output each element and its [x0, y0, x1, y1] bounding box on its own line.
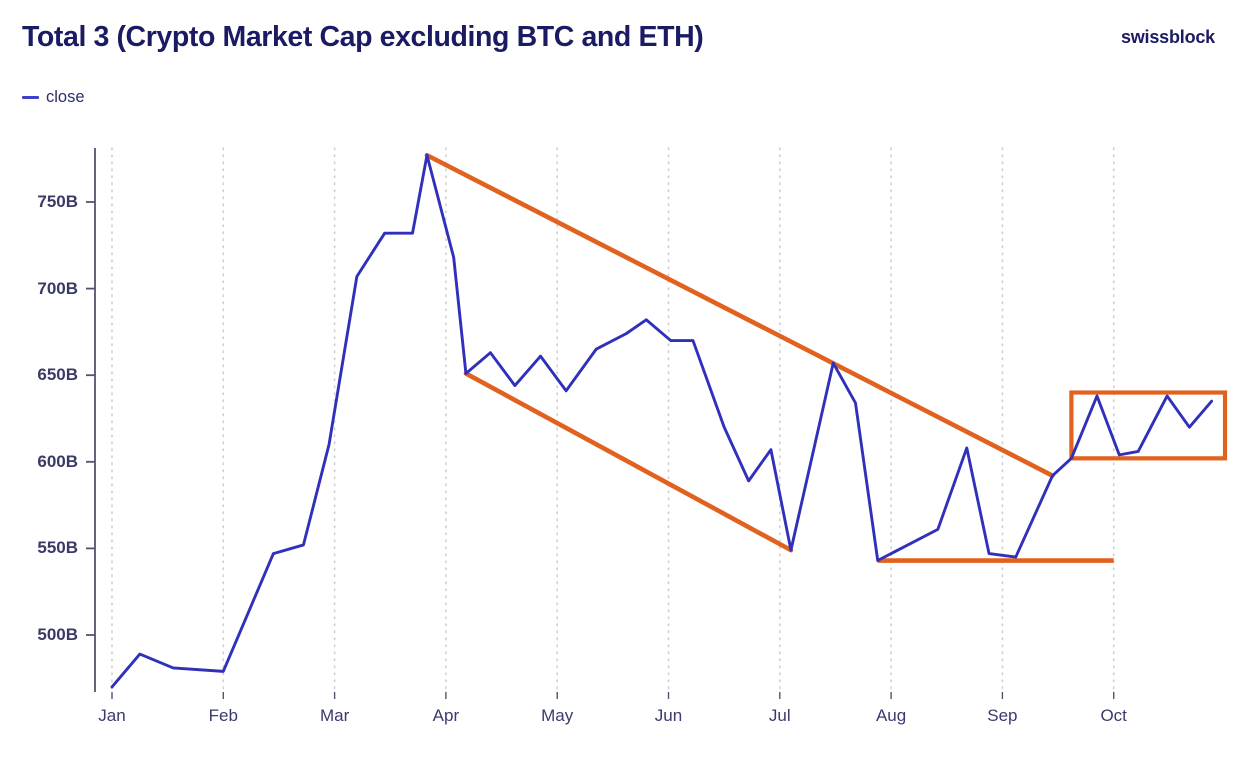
chart-page: Total 3 (Crypto Market Cap excluding BTC… [0, 0, 1239, 763]
y-axis-tick-label: 750B [8, 192, 78, 212]
upper-descending-trendline [427, 155, 1053, 475]
chart-canvas [0, 0, 1239, 763]
y-axis-tick-label: 600B [8, 452, 78, 472]
chart-plot-area: 500B550B600B650B700B750B JanFebMarAprMay… [0, 0, 1239, 763]
x-axis-tick-label: Apr [416, 706, 476, 726]
y-axis-tick-label: 650B [8, 365, 78, 385]
x-axis-tick-label: Aug [861, 706, 921, 726]
lower-descending-trendline [466, 373, 791, 550]
series-line-close [112, 155, 1212, 687]
x-axis-tick-label: Feb [193, 706, 253, 726]
x-axis-tick-label: May [527, 706, 587, 726]
x-axis-tick-label: Jun [639, 706, 699, 726]
y-axis-tick-label: 700B [8, 279, 78, 299]
x-axis-tick-label: Jan [82, 706, 142, 726]
x-axis-tick-label: Jul [750, 706, 810, 726]
x-axis-tick-label: Sep [972, 706, 1032, 726]
x-axis-tick-label: Mar [305, 706, 365, 726]
y-axis-tick-label: 550B [8, 538, 78, 558]
y-axis-tick-label: 500B [8, 625, 78, 645]
x-axis-tick-label: Oct [1084, 706, 1144, 726]
